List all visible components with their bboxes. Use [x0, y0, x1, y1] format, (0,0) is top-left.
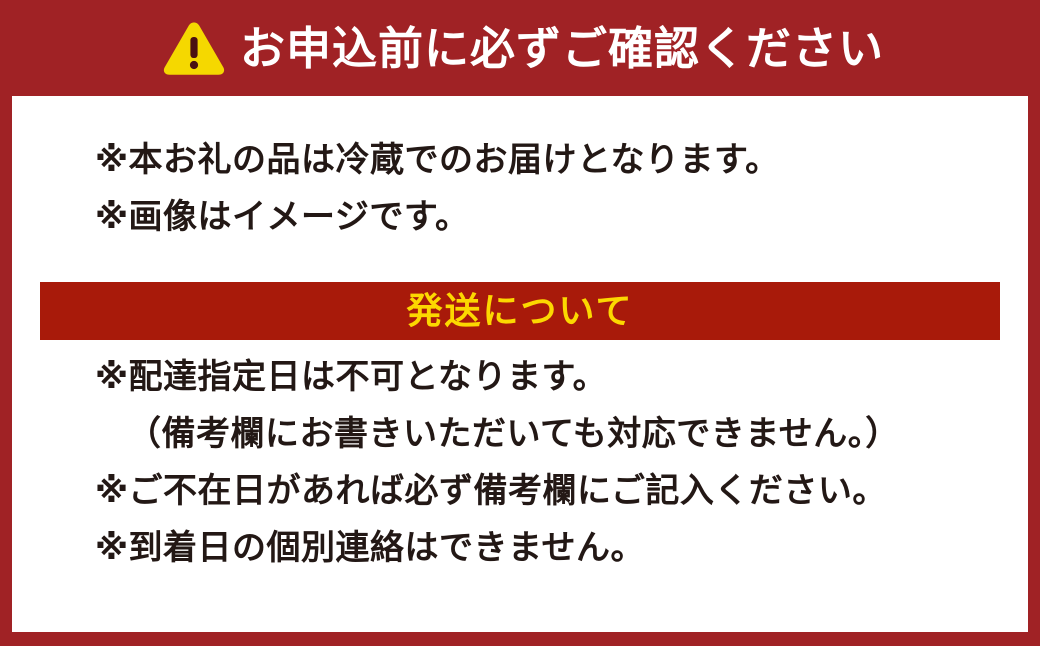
notice-content: ※本お礼の品は冷蔵でのお届けとなります。 ※画像はイメージです。 発送について …	[12, 96, 1028, 632]
header-banner: お申込前に必ずご確認ください	[0, 0, 1040, 96]
notice-card: お申込前に必ずご確認ください ※本お礼の品は冷蔵でのお届けとなります。 ※画像は…	[0, 0, 1040, 646]
shipping-section-banner: 発送について	[40, 282, 1000, 340]
shipping-section-title: 発送について	[407, 293, 634, 329]
note-line: ※本お礼の品は冷蔵でのお届けとなります。	[95, 132, 1028, 189]
shipping-notes: ※配達指定日は不可となります。 （備考欄にお書きいただいても対応できません。） …	[95, 349, 1028, 577]
shipping-note-line: ※配達指定日は不可となります。	[95, 349, 1028, 406]
shipping-note-line: （備考欄にお書きいただいても対応できません。）	[95, 406, 1028, 463]
page-title: お申込前に必ずご確認ください	[240, 26, 884, 71]
shipping-note-line: ※ご不在日があれば必ず備考欄にご記入ください。	[95, 463, 1028, 520]
note-line: ※画像はイメージです。	[95, 189, 1028, 246]
warning-triangle-icon	[162, 20, 226, 76]
general-notes: ※本お礼の品は冷蔵でのお届けとなります。 ※画像はイメージです。	[12, 96, 1028, 246]
shipping-note-line: ※到着日の個別連絡はできません。	[95, 520, 1028, 577]
